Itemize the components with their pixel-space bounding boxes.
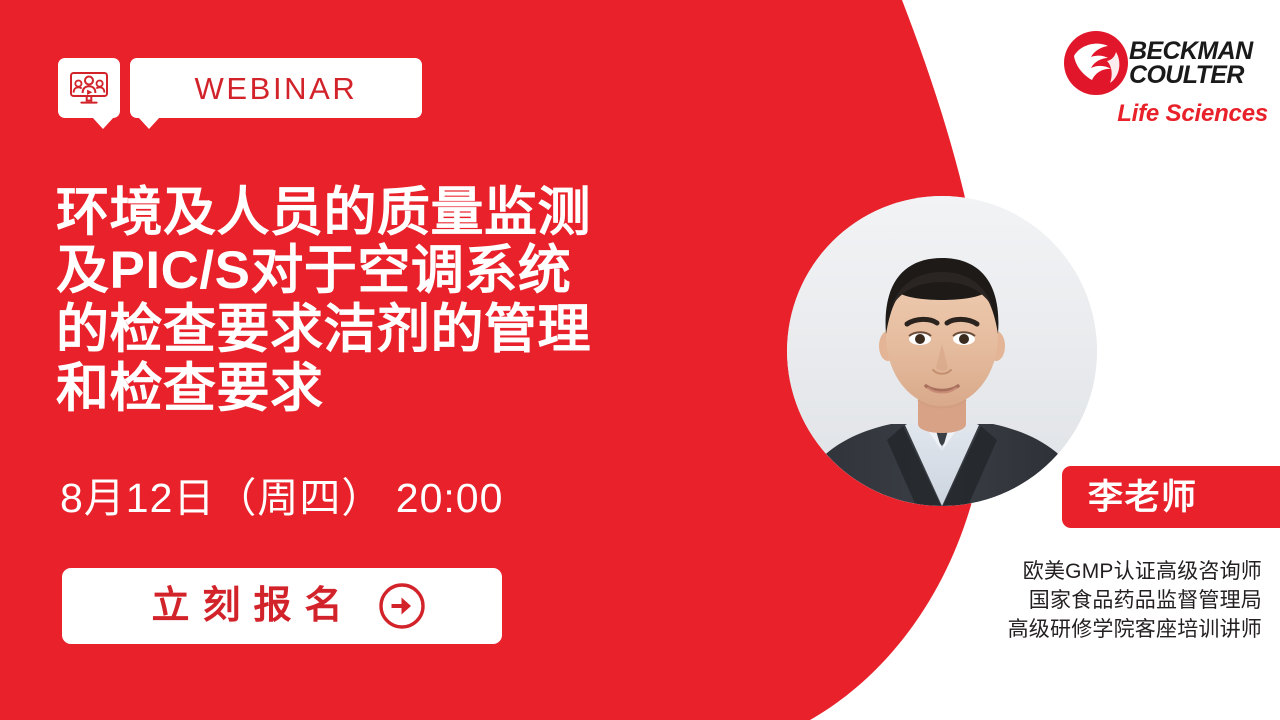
schedule-datetime: 8月12日（周四） 20:00 xyxy=(60,478,503,519)
speaker-name: 李老师 xyxy=(1088,480,1198,515)
credential-line-2: 国家食品药品监督管理局 xyxy=(902,587,1262,616)
speaker-name-badge: 李老师 xyxy=(1062,466,1280,528)
speaker-credentials: 欧美GMP认证高级咨询师 国家食品药品监督管理局 高级研修学院客座培训讲师 xyxy=(902,558,1262,645)
webinar-label-bubble: WEBINAR xyxy=(130,58,422,118)
headline-line-3: 的检查要求洁剂的管理 xyxy=(56,301,766,360)
brand-name-line-1: BECKMAN xyxy=(1129,40,1269,64)
register-now-label: 立刻报名 xyxy=(138,587,355,625)
webinar-badge: WEBINAR xyxy=(58,58,422,118)
register-now-button[interactable]: 立刻报名 xyxy=(62,568,502,644)
avatar xyxy=(787,196,1097,506)
page-title: 环境及人员的质量监测 及PIC/S对于空调系统 的检查要求洁剂的管理 和检查要求 xyxy=(56,184,766,419)
credential-line-3: 高级研修学院客座培训讲师 xyxy=(902,616,1262,645)
circle-arrow-right-icon xyxy=(378,582,426,630)
webinar-label: WEBINAR xyxy=(195,73,358,104)
webinar-screen-people-icon xyxy=(69,71,109,105)
headline-line-1: 环境及人员的质量监测 xyxy=(56,184,766,243)
headline-line-2: 及PIC/S对于空调系统 xyxy=(56,242,766,301)
brand-name-line-2: COULTER xyxy=(1129,64,1269,88)
credential-line-1: 欧美GMP认证高级咨询师 xyxy=(902,558,1262,587)
brand-wordmark: BECKMAN COULTER xyxy=(1129,40,1269,87)
headline-line-4: 和检查要求 xyxy=(56,360,766,419)
webinar-icon-bubble xyxy=(58,58,120,118)
beckman-coulter-sphere-logo-icon xyxy=(1063,30,1129,96)
brand-logo: BECKMAN COULTER Life Sciences xyxy=(1063,26,1268,141)
webinar-poster: WEBINAR 环境及人员的质量监测 及PIC/S对于空调系统 的检查要求洁剂的… xyxy=(0,0,1280,720)
brand-tagline: Life Sciences xyxy=(1117,102,1268,126)
speaker-portrait xyxy=(787,196,1097,506)
